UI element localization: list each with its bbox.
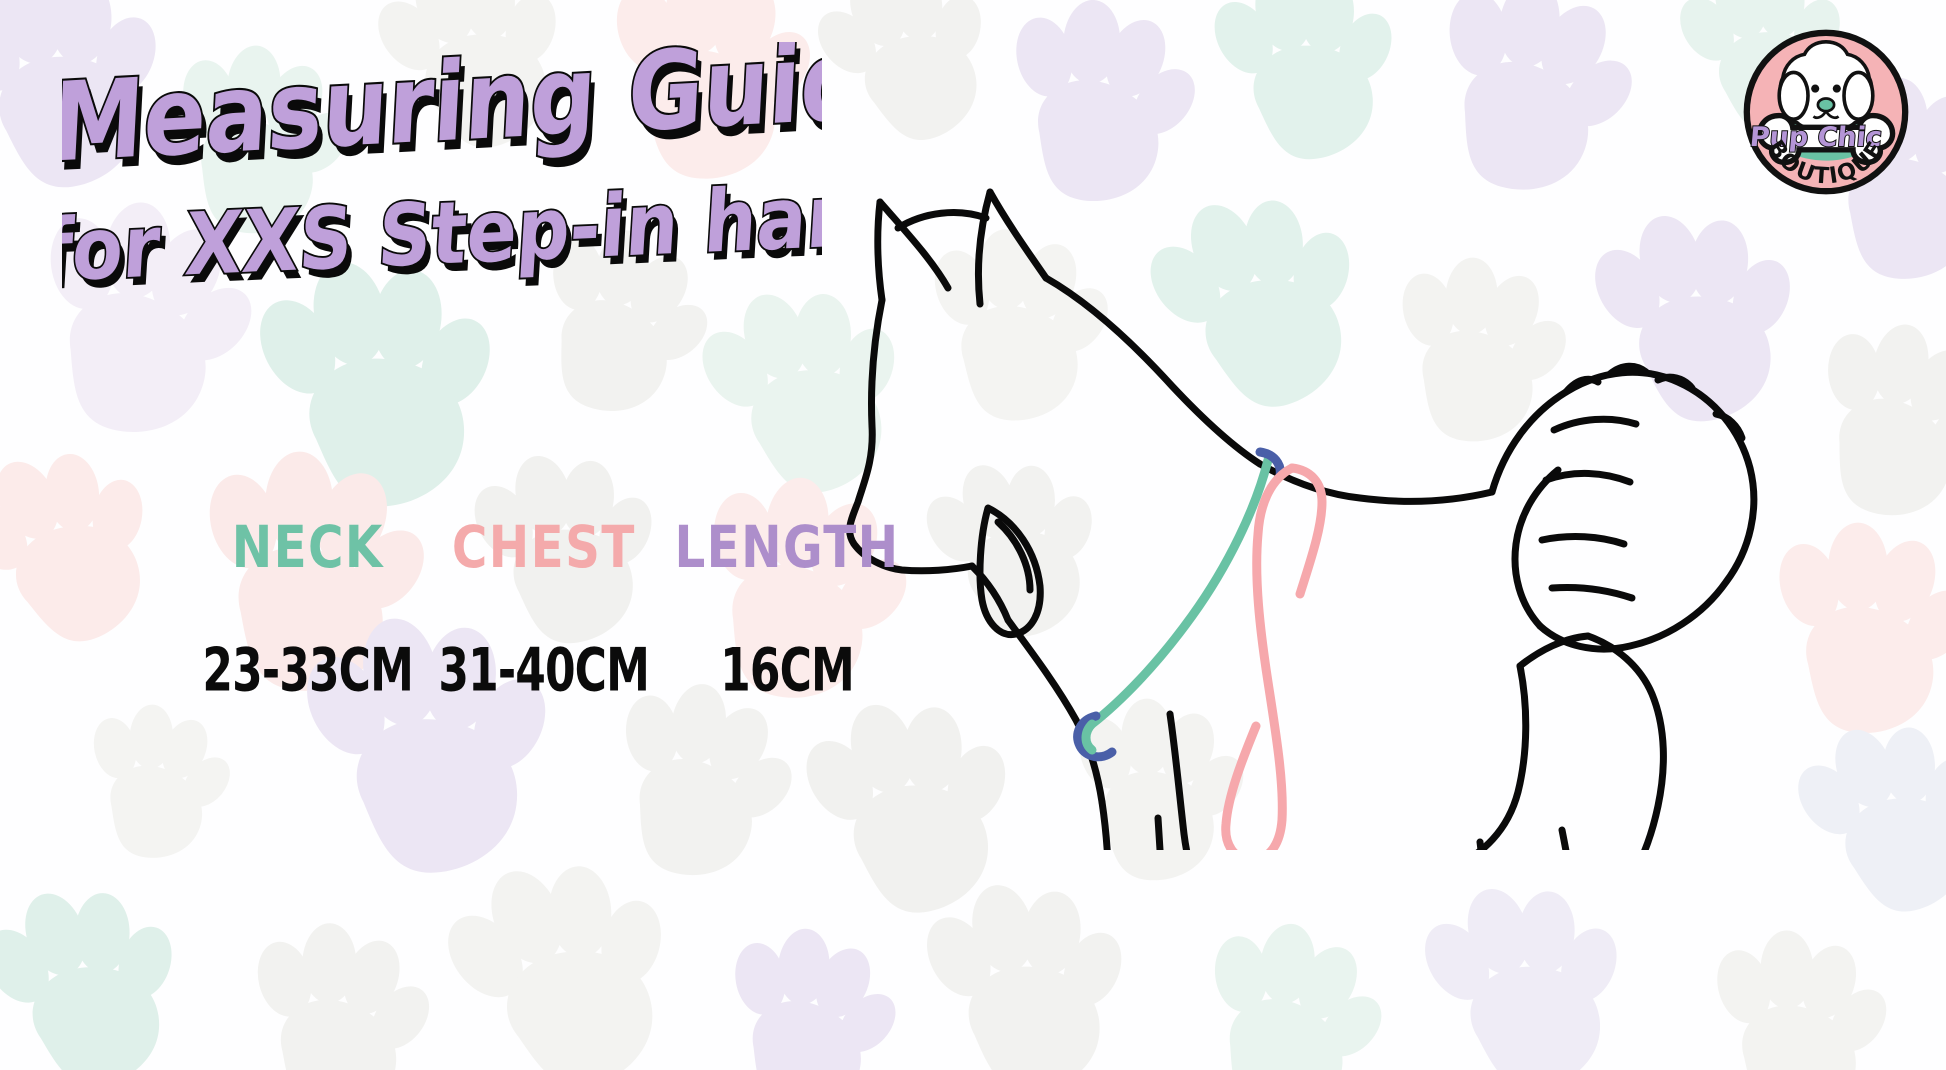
measurement-label-row: NECK CHEST LENGTH [190,522,950,574]
logo-poodle-ear-right [1844,72,1873,119]
dog-ear-right-back [990,192,1046,278]
measurement-value-row: 23-33CM 31-40CM 16CM [190,645,950,695]
measurement-column-neck: NECK [190,522,426,574]
dog-hip-front [1452,666,1526,850]
dog-tail-fur-4 [1552,587,1632,598]
dog-tail-fur-3 [1542,537,1624,544]
label-neck: NECK [232,519,384,577]
title-text: Measuring Guide [62,42,822,187]
dog-tail-inner [1515,470,1558,626]
dog-skull-top [898,213,986,228]
logo-poodle-eye-left [1811,85,1819,93]
dog-elbow-tick [1158,818,1160,850]
value-column-length: 16CM [662,645,912,695]
label-chest: CHEST [452,519,636,577]
value-column-chest: 31-40CM [426,645,662,695]
headline-block: .tt{ font-family:"DejaVu Sans", sans-ser… [62,42,822,302]
neck-loop-bottom-curve [1086,724,1092,750]
dog-illustration [840,130,1900,850]
label-length: LENGTH [674,519,899,577]
neck-measure-loop [1078,452,1281,757]
dog-belly-front [1170,714,1212,850]
dog-neck-top [1046,278,1260,464]
dog-hip-top [1520,636,1588,666]
dog-tail-fur-1 [1554,419,1636,430]
measurement-table: NECK CHEST LENGTH [190,522,950,630]
logo-poodle-ear-left [1779,72,1808,119]
logo-poodle-eye-right [1833,85,1841,93]
value-column-neck: 23-33CM [190,645,426,695]
dog-ear-right-front [978,192,990,304]
measurement-column-chest: CHEST [426,522,662,574]
value-chest: 31-40CM [439,640,650,700]
dog-front-leg-near [1102,802,1116,850]
brand-logo[interactable]: Pup Chic BOUTIQUE [1736,22,1916,202]
title-art: .tt{ font-family:"DejaVu Sans", sans-ser… [62,42,822,302]
dog-chest-front [1008,620,1102,802]
dog-rear-outline [1588,636,1663,850]
measurement-column-length: LENGTH [662,522,912,574]
dog-tail-fur-2 [1546,473,1630,482]
logo-poodle-nose [1818,99,1834,112]
measuring-guide-canvas: .tt{ font-family:"DejaVu Sans", sans-ser… [0,0,1946,1070]
dog-rear-leg-far [1562,830,1581,850]
value-length: 16CM [720,640,854,700]
dog-ear-left-front [878,202,882,300]
value-neck: 23-33CM [203,640,414,700]
